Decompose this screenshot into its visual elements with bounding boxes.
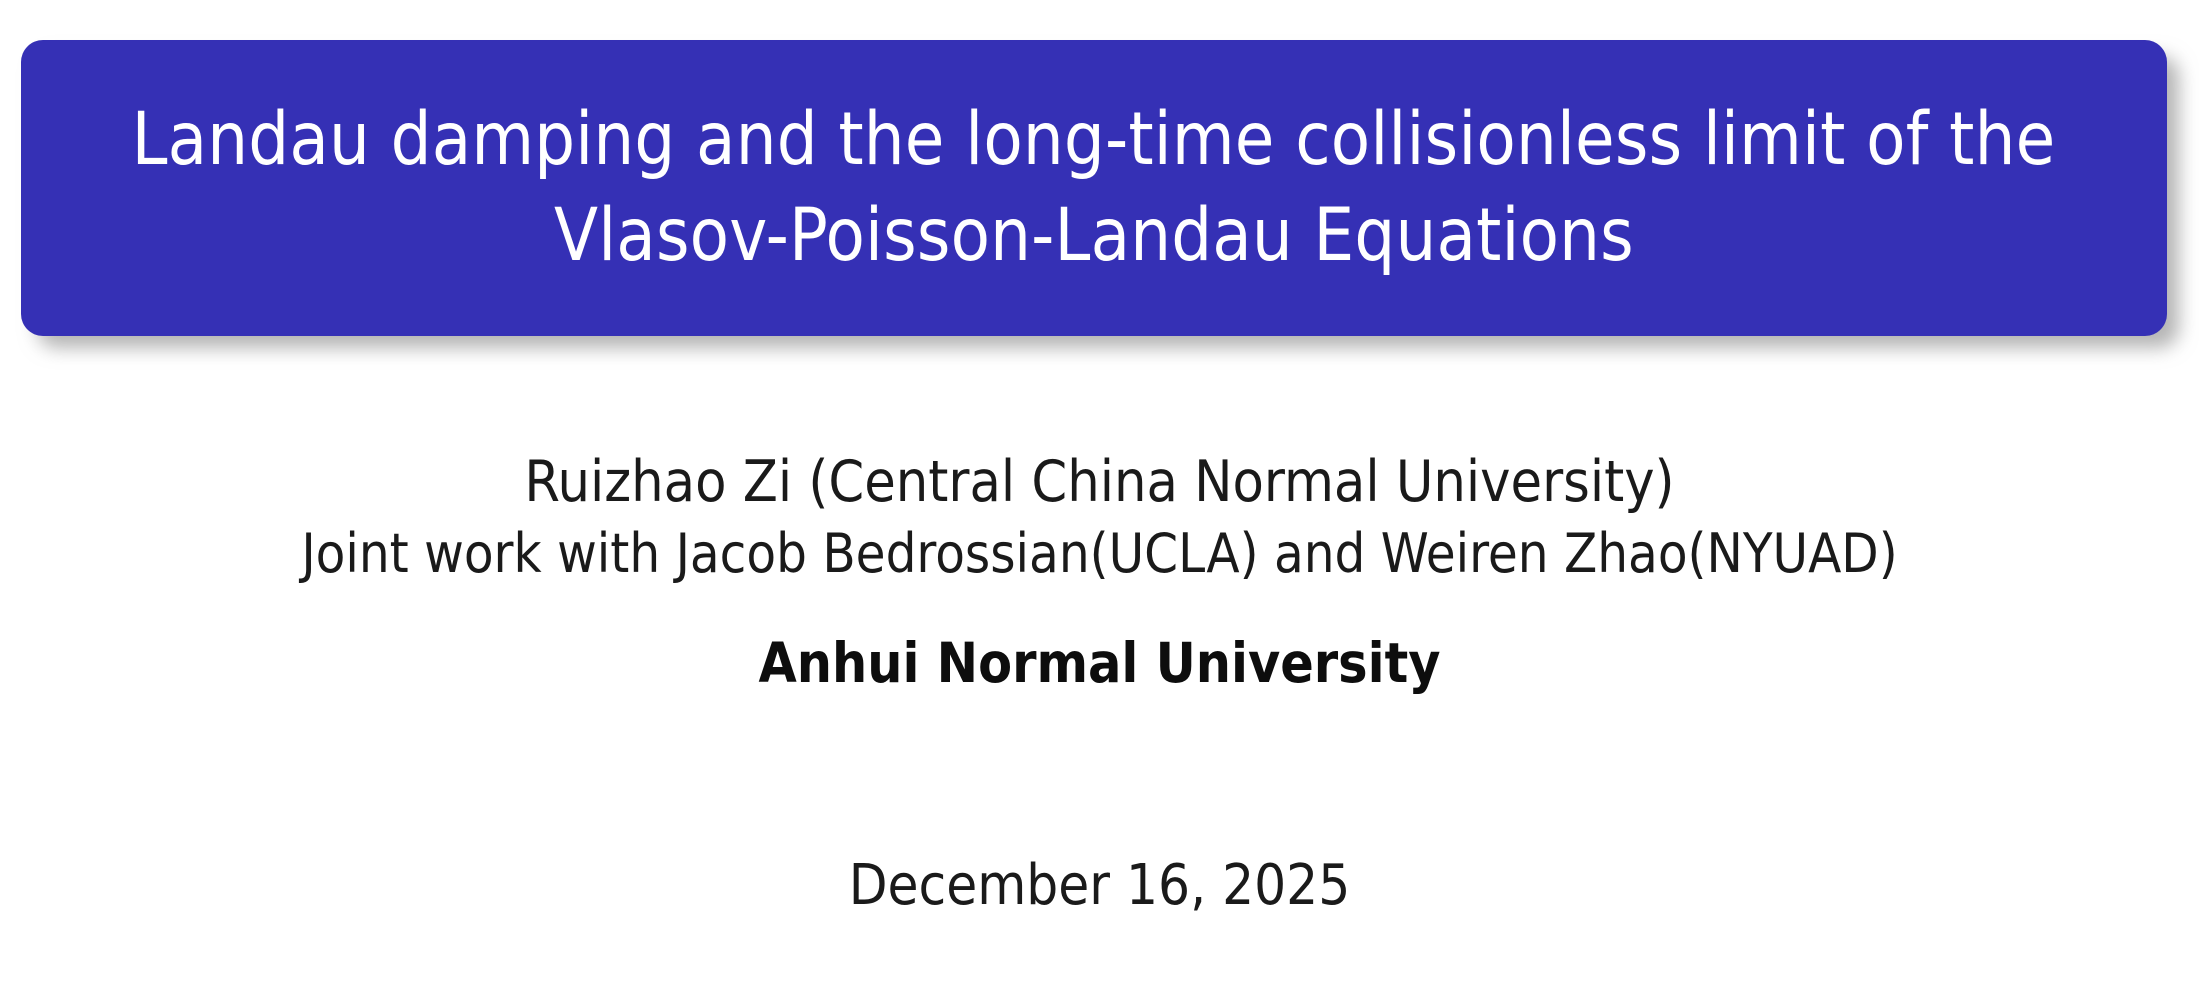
date-block: December 16, 2025 (0, 851, 2199, 921)
slide-body: Ruizhao Zi (Central China Normal Univers… (0, 336, 2199, 1005)
author-block: Ruizhao Zi (Central China Normal Univers… (0, 446, 2199, 590)
institute-name: Anhui Normal University (0, 629, 2199, 697)
author-secondary: Joint work with Jacob Bedrossian(UCLA) a… (0, 518, 2199, 590)
author-primary: Ruizhao Zi (Central China Normal Univers… (0, 446, 2199, 518)
title-line-1: Landau damping and the long-time collisi… (132, 92, 2056, 188)
title-line-2: Vlasov-Poisson-Landau Equations (554, 188, 1634, 284)
presentation-date: December 16, 2025 (0, 851, 2199, 921)
title-banner: Landau damping and the long-time collisi… (21, 40, 2167, 336)
presentation-title-slide: Landau damping and the long-time collisi… (0, 0, 2199, 1005)
institute-block: Anhui Normal University (0, 629, 2199, 697)
